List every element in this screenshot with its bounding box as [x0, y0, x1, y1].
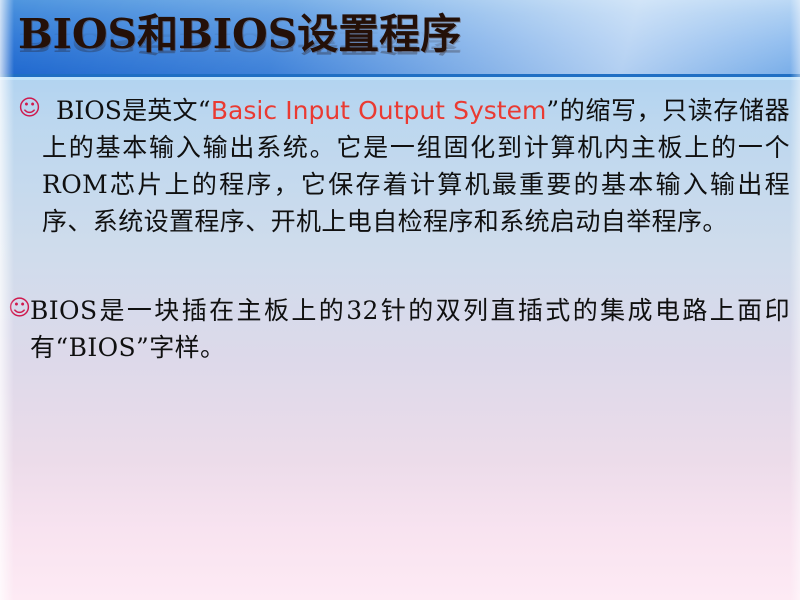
smiley-face-bullet-icon: ☺: [8, 298, 30, 320]
smiley-face-bullet-icon: ☺: [18, 98, 40, 120]
bullet-1-text: BIOS是英文“Basic Input Output System”的缩写，只读…: [42, 92, 790, 240]
bullet-1-highlight: Basic Input Output System: [211, 96, 546, 125]
slide-body: ☺ BIOS是英文“Basic Input Output System”的缩写，…: [0, 88, 800, 366]
header-divider-light: [0, 77, 800, 80]
bullet-1-quote-open: “: [198, 96, 211, 125]
bullet-2-text: BIOS是一块插在主板上的32针的双列直插式的集成电路上面印有“BIOS”字样。: [30, 292, 790, 366]
bullet-item-2: ☺ BIOS是一块插在主板上的32针的双列直插式的集成电路上面印有“BIOS”字…: [0, 292, 800, 366]
page-title: BIOS和BIOS设置程序: [18, 12, 461, 56]
slide-canvas: BIOS和BIOS设置程序 BIOS和BIOS设置程序 ☺ BIOS是英文“Ba…: [0, 0, 800, 600]
bullet-item-1: ☺ BIOS是英文“Basic Input Output System”的缩写，…: [0, 92, 800, 240]
slide-title-area: BIOS和BIOS设置程序 BIOS和BIOS设置程序: [18, 12, 778, 78]
bullet-1-seg-0: BIOS是英文: [56, 96, 198, 125]
bullet-2-seg-0: BIOS是一块插在主板上的32针的双列直插式的集成电路上面印有“BIOS”字样。: [30, 296, 790, 362]
